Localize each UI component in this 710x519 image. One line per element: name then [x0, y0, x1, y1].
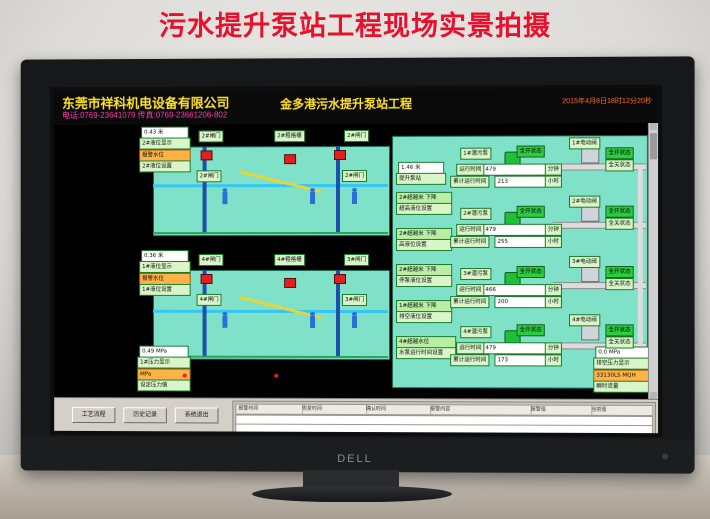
valve-1-close-status: 全关状态 [605, 159, 633, 171]
water-level-line-upper [153, 184, 388, 187]
pump-1-total: 213 [494, 176, 546, 188]
operator-figure-4-icon [222, 316, 227, 328]
alarm-table-row-2[interactable] [235, 424, 653, 434]
gate-label-6[interactable]: 3#闸门 [344, 254, 369, 266]
pump-2-total-label: 累计运行时间 [450, 236, 489, 248]
pump-4-name: 4#潜污泵 [460, 326, 491, 338]
pump-1-total-label: 累计运行时间 [450, 176, 489, 188]
mimic-scrollbar[interactable] [648, 123, 658, 399]
scada-toolbar: 工艺流程 历史记录 系统退出 报警时间 恢复时间 确认时间 报警内容 报警值 当… [54, 397, 658, 433]
pump-4-total: 173 [494, 354, 546, 366]
scroll-up-icon[interactable] [650, 123, 657, 130]
pump-4-runtime-unit: 分钟 [545, 342, 562, 354]
pump-3-total: 200 [494, 296, 546, 308]
gate-actuator-3-icon[interactable] [201, 274, 213, 284]
bar-screen-2-icon[interactable] [284, 278, 296, 288]
scada-header: 东莞市祥科机电设备有限公司 电话:0769-23641079 传真:0769-2… [54, 89, 658, 125]
valve-4-open-status: 全开状态 [605, 324, 633, 336]
scroll-thumb[interactable] [650, 133, 657, 159]
company-contact: 电话:0769-23641079 传真:0769-23661206-802 [62, 109, 227, 121]
valve-4-name: 4#电动阀 [569, 314, 600, 326]
level-setpoint-2[interactable]: 2#液位设置 [139, 160, 191, 172]
monitor: DELL 东莞市祥科机电设备有限公司 电话:0769-23641079 传真:0… [21, 56, 695, 473]
pump-2-name: 2#潜污泵 [460, 208, 491, 220]
alarm-col-time: 报警时间 [236, 405, 303, 414]
valve-2-actuator-icon[interactable] [581, 206, 599, 222]
valve-1-name: 1#电动阀 [569, 137, 600, 149]
wet-well-label: 提升泵站 [396, 173, 446, 185]
setpoint-high-label: 高液位设置 [396, 239, 452, 251]
valve-4-actuator-icon[interactable] [581, 324, 599, 340]
pump-1-start-button[interactable]: 全开状态 [517, 145, 545, 157]
gate-actuator-2-icon[interactable] [334, 150, 346, 160]
pump-1-total-unit: 小时 [545, 176, 562, 188]
pump-3-runtime: 466 [482, 284, 548, 296]
pump-3-runtime-unit: 分钟 [545, 284, 562, 296]
setpoint-runtime-label: 水泵运行时间设置 [396, 347, 456, 359]
pump-2-runtime-label: 运行时间 [456, 224, 484, 236]
level-tag-2-display: 2#液位显示 [139, 137, 191, 149]
alarm-col-ack: 确认时间 [364, 405, 431, 414]
pump-3-total-unit: 小时 [545, 296, 562, 308]
alarm-col-value: 报警值 [529, 406, 593, 415]
pump-4-start-button[interactable]: 全开状态 [517, 324, 545, 336]
operator-figure-6-icon [352, 316, 357, 328]
alarm-col-content: 报警内容 [428, 405, 532, 414]
gate-label-2[interactable]: 2#粗格栅 [274, 130, 305, 142]
mimic-diagram: 0.43 米 2#液位显示 报警水位 2#液位设置 0.36 米 1#液位显示 … [54, 123, 658, 399]
pressure-setpoint-1[interactable]: 设定压力值 [137, 379, 191, 391]
operator-figure-1-icon [222, 192, 227, 204]
gate-status-1: 2#闸门 [197, 170, 222, 182]
scroll-down-icon[interactable] [650, 392, 657, 399]
pump-4-total-label: 累计运行时间 [450, 354, 489, 366]
pump-3-start-button[interactable]: 全开状态 [517, 266, 545, 278]
gate-label-4[interactable]: 4#闸门 [199, 254, 224, 266]
setpoint-stop-label: 停泵液位设置 [396, 275, 452, 287]
level-setpoint-1[interactable]: 1#液位设置 [139, 284, 191, 296]
valve-3-close-status: 全关状态 [605, 278, 633, 290]
gate-label-5[interactable]: 4#粗格栅 [274, 254, 305, 266]
monitor-brand-bar: DELL [21, 437, 695, 474]
pump-4-total-unit: 小时 [545, 354, 562, 366]
alarm-table[interactable]: 报警时间 恢复时间 确认时间 报警内容 报警值 当前值 [232, 401, 656, 434]
pump-2-runtime: 479 [482, 224, 548, 236]
banner: 污水提升泵站工程现场实景拍摄 [0, 4, 710, 43]
power-led-icon[interactable] [662, 453, 668, 459]
operator-figure-3-icon [352, 192, 357, 204]
alarm-col-recover: 恢复时间 [300, 405, 367, 414]
status-indicator-1 [183, 374, 187, 378]
valve-1-actuator-icon[interactable] [581, 147, 599, 163]
valve-3-actuator-icon[interactable] [581, 266, 599, 282]
status-indicator-2 [274, 374, 278, 378]
pump-2-total-unit: 小时 [545, 236, 562, 248]
operator-figure-2-icon [310, 192, 315, 204]
button-history[interactable]: 历史记录 [123, 407, 167, 423]
gate-status-2: 2#闸门 [342, 170, 367, 182]
setpoint-empty-label: 排空液位设置 [396, 311, 452, 323]
valve-3-open-status: 全开状态 [605, 266, 633, 278]
valve-1-open-status: 全开状态 [605, 147, 633, 159]
pump-4-runtime-label: 运行时间 [456, 342, 484, 354]
discharge-header [638, 163, 643, 352]
pressure-display-1: 1#压力显示 [137, 357, 191, 369]
gate-label-1[interactable]: 2#闸门 [199, 130, 224, 142]
pump-4-runtime: 479 [482, 342, 548, 354]
project-title: 金多港污水提升泵站工程 [280, 95, 412, 112]
operator-figure-5-icon [310, 316, 315, 328]
gate-actuator-4-icon[interactable] [334, 274, 346, 284]
gate-status-4: 3#闸门 [342, 294, 367, 306]
pump-2-start-button[interactable]: 全开状态 [517, 206, 545, 218]
valve-2-name: 2#电动阀 [569, 196, 600, 208]
valve-2-close-status: 全关状态 [605, 218, 633, 230]
pump-2-runtime-unit: 分钟 [545, 224, 562, 236]
alarm-col-current: 当前值 [589, 406, 653, 415]
discharge-pressure-display: 排空压力显示 [593, 358, 652, 370]
monitor-stand-base [252, 486, 452, 502]
bar-screen-1-icon[interactable] [284, 154, 296, 164]
gate-actuator-1-icon[interactable] [201, 150, 213, 160]
pump-2-total: 255 [494, 236, 546, 248]
banner-title: 污水提升泵站工程现场实景拍摄 [159, 4, 551, 43]
pump-3-name: 3#潜污泵 [460, 268, 491, 280]
valve-2-open-status: 全开状态 [605, 206, 633, 218]
pump-1-runtime-label: 运行时间 [456, 164, 484, 176]
valve-4-close-status: 全关状态 [605, 336, 633, 348]
button-process-flow[interactable]: 工艺流程 [72, 407, 115, 423]
monitor-brand-label: DELL [337, 453, 373, 465]
system-datetime: 2015年4月8日18时12分20秒 [562, 96, 652, 106]
pump-3-runtime-label: 运行时间 [456, 284, 484, 296]
pump-1-name: 1#潜污泵 [460, 148, 491, 160]
button-exit[interactable]: 系统退出 [175, 407, 219, 423]
pump-3-total-label: 累计运行时间 [450, 296, 489, 308]
setpoint-superhigh-label: 超高液位设置 [396, 203, 452, 215]
valve-3-name: 3#电动阀 [569, 256, 600, 268]
channel-floor-upper [153, 232, 388, 234]
level-tag-1-display: 1#液位显示 [139, 261, 191, 273]
pump-1-runtime-unit: 分钟 [545, 164, 562, 176]
flow-instant-label: 瞬时流量 [593, 381, 652, 393]
gate-label-3[interactable]: 2#闸门 [344, 130, 369, 142]
scada-screen: 东莞市祥科机电设备有限公司 电话:0769-23641079 传真:0769-2… [54, 89, 658, 433]
gate-status-3: 4#闸门 [197, 294, 222, 306]
pump-1-runtime: 479 [482, 164, 548, 176]
